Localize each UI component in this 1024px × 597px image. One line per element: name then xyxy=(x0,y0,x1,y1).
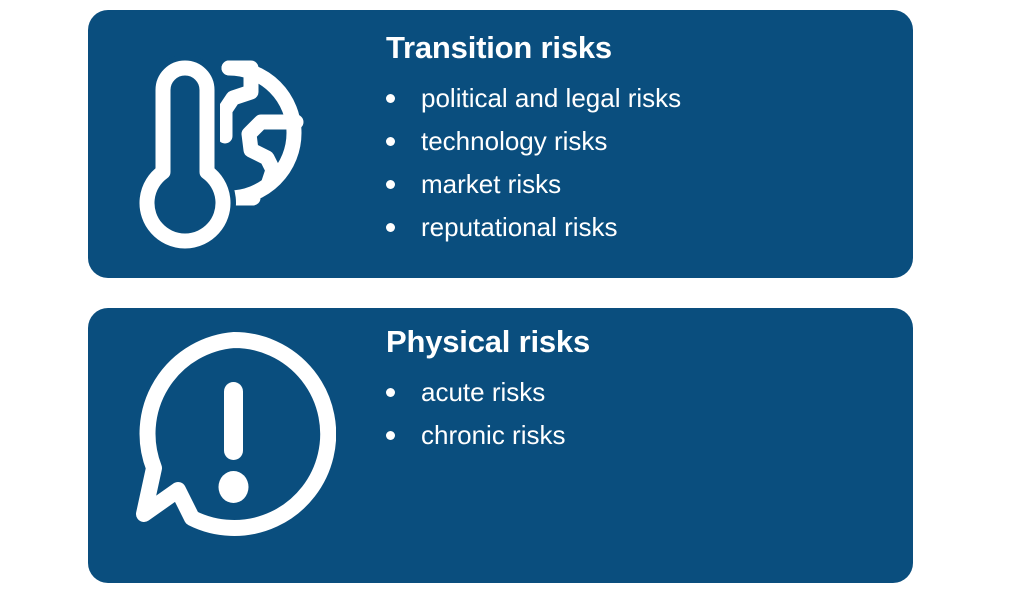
bullet-list: acute risks chronic risks xyxy=(378,371,913,457)
card-body: Physical risks acute risks chronic risks xyxy=(378,308,913,457)
bullet-dot-icon xyxy=(386,431,395,440)
bullet-list: political and legal risks technology ris… xyxy=(378,77,913,249)
bullet-dot-icon xyxy=(386,180,395,189)
list-item: political and legal risks xyxy=(378,77,913,120)
climate-risk-diagram: Transition risks political and legal ris… xyxy=(0,0,1024,597)
list-item-label: political and legal risks xyxy=(421,83,681,113)
card-body: Transition risks political and legal ris… xyxy=(378,10,913,249)
speech-bubble-exclamation-icon xyxy=(130,330,336,542)
list-item-label: chronic risks xyxy=(421,420,565,450)
card-icon-slot xyxy=(88,10,378,250)
list-item-label: market risks xyxy=(421,169,561,199)
bullet-dot-icon xyxy=(386,137,395,146)
list-item: technology risks xyxy=(378,120,913,163)
list-item: market risks xyxy=(378,163,913,206)
thermometer-globe-icon xyxy=(133,54,333,250)
bullet-dot-icon xyxy=(386,223,395,232)
card-transition-risks: Transition risks political and legal ris… xyxy=(88,10,913,278)
list-item-label: technology risks xyxy=(421,126,607,156)
card-icon-slot xyxy=(88,308,378,542)
card-title: Transition risks xyxy=(378,32,913,63)
list-item: acute risks xyxy=(378,371,913,414)
list-item-label: acute risks xyxy=(421,377,545,407)
list-item: reputational risks xyxy=(378,206,913,249)
card-physical-risks: Physical risks acute risks chronic risks xyxy=(88,308,913,583)
bullet-dot-icon xyxy=(386,94,395,103)
list-item: chronic risks xyxy=(378,414,913,457)
list-item-label: reputational risks xyxy=(421,212,618,242)
bullet-dot-icon xyxy=(386,388,395,397)
card-title: Physical risks xyxy=(378,326,913,357)
